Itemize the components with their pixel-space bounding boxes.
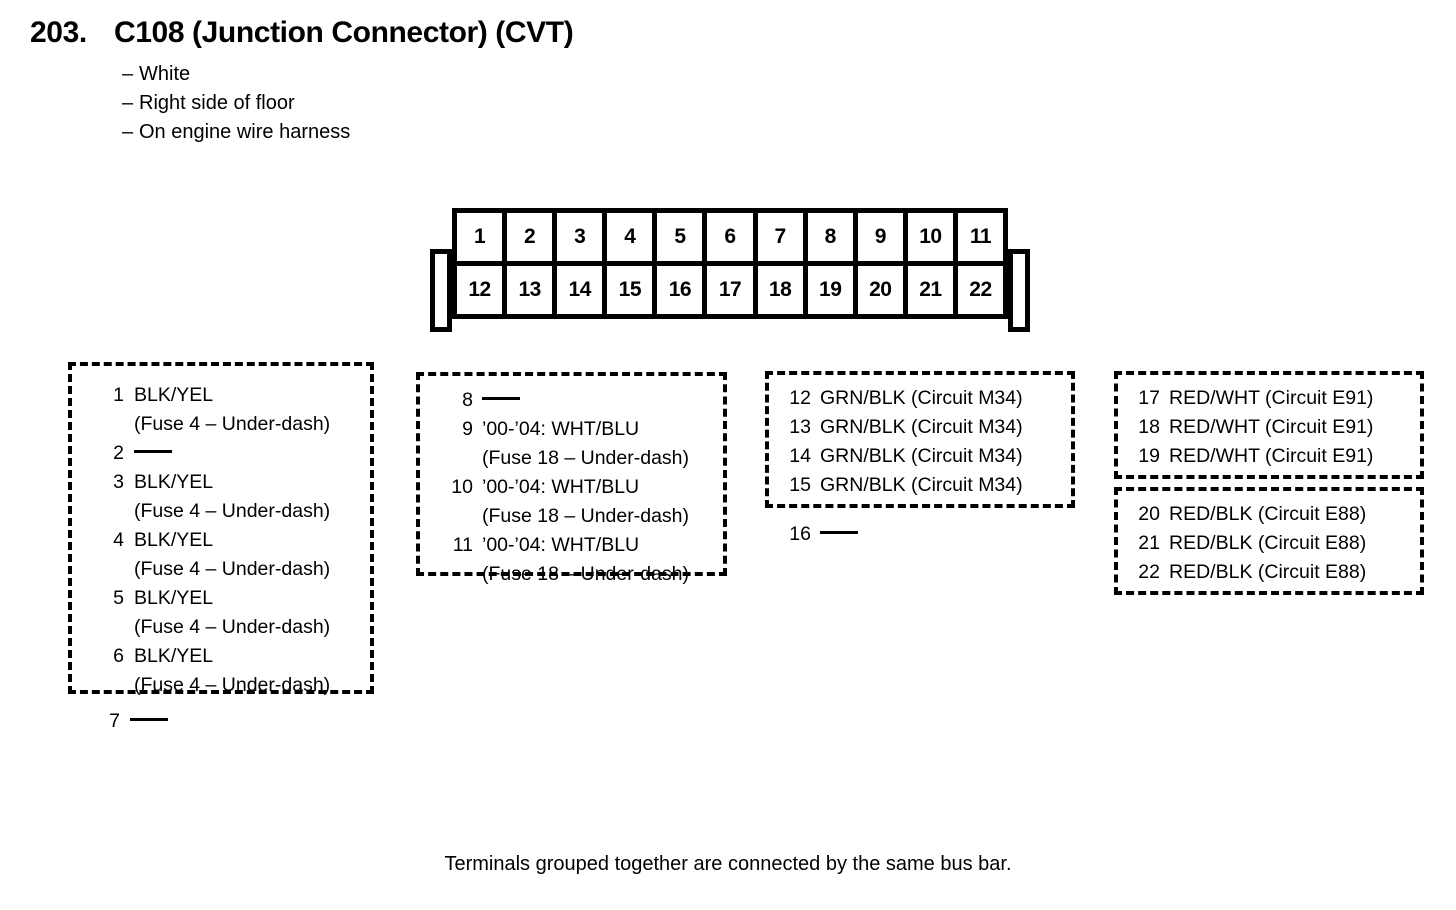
connector-tab-right	[1008, 249, 1030, 332]
connector-pin-cell: 7	[758, 213, 808, 266]
bullet-dash-icon: –	[122, 60, 139, 89]
pin-entry-line: 11’00-’04: WHT/BLU	[443, 531, 723, 560]
pin-entry: 1BLK/YEL(Fuse 4 – Under-dash)	[102, 381, 370, 439]
pin-entry: 5BLK/YEL(Fuse 4 – Under-dash)	[102, 584, 370, 642]
connector-property: –White	[122, 60, 930, 89]
pin-description: RED/BLK (Circuit E88)	[1169, 500, 1366, 529]
pin-description: BLK/YEL	[134, 381, 213, 410]
pin-description	[130, 707, 168, 736]
pin-entry: 17RED/WHT (Circuit E91)	[1134, 384, 1420, 413]
pin-entry-line: 14GRN/BLK (Circuit M34)	[785, 442, 1071, 471]
terminal-group-box: 89’00-’04: WHT/BLU(Fuse 18 – Under-dash)…	[416, 372, 727, 576]
pin-entry: 4BLK/YEL(Fuse 4 – Under-dash)	[102, 526, 370, 584]
pin-entry-line: 21RED/BLK (Circuit E88)	[1134, 529, 1420, 558]
pin-entry: 8	[443, 386, 723, 415]
connector-pin-cell: 21	[908, 266, 958, 314]
pin-source-note: (Fuse 4 – Under-dash)	[102, 613, 370, 642]
connector-property: –On engine wire harness	[122, 118, 930, 147]
pin-entry-line: 1BLK/YEL	[102, 381, 370, 410]
pin-number: 16	[785, 520, 811, 549]
pin-list: 89’00-’04: WHT/BLU(Fuse 18 – Under-dash)…	[443, 386, 723, 589]
pin-entry: 2	[102, 439, 370, 468]
pin-number: 1	[102, 381, 124, 410]
pin-description: GRN/BLK (Circuit M34)	[820, 384, 1023, 413]
pin-description	[134, 439, 172, 468]
pin-entry-line: 6BLK/YEL	[102, 642, 370, 671]
bullet-dash-icon: –	[122, 89, 139, 118]
connector-pin-cell: 14	[557, 266, 607, 314]
connector-pin-cell: 11	[958, 213, 1003, 266]
pin-entry: 15GRN/BLK (Circuit M34)	[785, 471, 1071, 500]
pin-entry-line: 10’00-’04: WHT/BLU	[443, 473, 723, 502]
pin-source-note: (Fuse 4 – Under-dash)	[102, 671, 370, 700]
connector-pin-cell: 22	[958, 266, 1003, 314]
pin-entry-line: 12GRN/BLK (Circuit M34)	[785, 384, 1071, 413]
connector-pin-cell: 17	[707, 266, 757, 314]
connector-pin-cell: 18	[758, 266, 808, 314]
pin-entry: 20RED/BLK (Circuit E88)	[1134, 500, 1420, 529]
pin-list: 20RED/BLK (Circuit E88)21RED/BLK (Circui…	[1134, 500, 1420, 587]
pin-list: 17RED/WHT (Circuit E91)18RED/WHT (Circui…	[1134, 384, 1420, 471]
pin-description: BLK/YEL	[134, 526, 213, 555]
connector-property-label: Right side of floor	[139, 92, 295, 114]
pin-entry: 22RED/BLK (Circuit E88)	[1134, 558, 1420, 587]
page-title: 203.C108 (Junction Connector) (CVT)	[30, 18, 930, 48]
pin-description: GRN/BLK (Circuit M34)	[820, 442, 1023, 471]
page-title-text: C108 (Junction Connector) (CVT)	[114, 16, 573, 49]
pin-entry-line: 5BLK/YEL	[102, 584, 370, 613]
pin-entry: 12GRN/BLK (Circuit M34)	[785, 384, 1071, 413]
pin-entry: 13GRN/BLK (Circuit M34)	[785, 413, 1071, 442]
pin-number: 22	[1134, 558, 1160, 587]
pin-description: RED/BLK (Circuit E88)	[1169, 529, 1366, 558]
pin-entry: 10’00-’04: WHT/BLU(Fuse 18 – Under-dash)	[443, 473, 723, 531]
connector-pin-cell: 9	[858, 213, 908, 266]
connector-pin-cell: 10	[908, 213, 958, 266]
pin-list: 12GRN/BLK (Circuit M34)13GRN/BLK (Circui…	[785, 384, 1071, 500]
connector-tab-left	[430, 249, 452, 332]
terminal-group-box: 12GRN/BLK (Circuit M34)13GRN/BLK (Circui…	[765, 371, 1075, 508]
pin-row-top: 1234567891011	[457, 213, 1003, 266]
pin-number: 18	[1134, 413, 1160, 442]
pin-description	[482, 386, 520, 415]
pin-entry: 6BLK/YEL(Fuse 4 – Under-dash)	[102, 642, 370, 700]
connector-pin-cell: 3	[557, 213, 607, 266]
pin-description: BLK/YEL	[134, 584, 213, 613]
pin-entry-line: 13GRN/BLK (Circuit M34)	[785, 413, 1071, 442]
pin-description: BLK/YEL	[134, 468, 213, 497]
connector-property: –Right side of floor	[122, 89, 930, 118]
connector-pinout-diagram: 1234567891011 1213141516171819202122	[430, 208, 1030, 333]
pin-entry-ungrouped: 16	[785, 520, 858, 549]
pin-number: 5	[102, 584, 124, 613]
connector-pin-cell: 13	[507, 266, 557, 314]
connector-pin-cell: 16	[657, 266, 707, 314]
pin-entry-line: 8	[443, 386, 723, 415]
pin-number: 2	[102, 439, 124, 468]
connector-pin-cell: 1	[457, 213, 507, 266]
pin-description: BLK/YEL	[134, 642, 213, 671]
pin-entry: 18RED/WHT (Circuit E91)	[1134, 413, 1420, 442]
pin-entry-line: 9’00-’04: WHT/BLU	[443, 415, 723, 444]
empty-terminal-dash-icon	[482, 397, 520, 400]
pin-entry: 14GRN/BLK (Circuit M34)	[785, 442, 1071, 471]
pin-entry: 11’00-’04: WHT/BLU(Fuse 18 – Under-dash)	[443, 531, 723, 589]
pin-description: RED/BLK (Circuit E88)	[1169, 558, 1366, 587]
pin-number: 13	[785, 413, 811, 442]
pin-number: 11	[443, 531, 473, 560]
pin-entry-line: 19RED/WHT (Circuit E91)	[1134, 442, 1420, 471]
pin-source-note: (Fuse 18 – Under-dash)	[443, 444, 723, 473]
bullet-dash-icon: –	[122, 118, 139, 147]
pin-description: ’00-’04: WHT/BLU	[482, 531, 639, 560]
pin-entry: 19RED/WHT (Circuit E91)	[1134, 442, 1420, 471]
connector-pin-cell: 5	[657, 213, 707, 266]
pin-description: RED/WHT (Circuit E91)	[1169, 384, 1373, 413]
pin-description	[820, 520, 858, 549]
pin-entry-line: 17RED/WHT (Circuit E91)	[1134, 384, 1420, 413]
pin-number: 6	[102, 642, 124, 671]
empty-terminal-dash-icon	[130, 718, 168, 721]
empty-terminal-dash-icon	[820, 531, 858, 534]
footer-note: Terminals grouped together are connected…	[0, 853, 1456, 876]
connector-properties-list: –White –Right side of floor –On engine w…	[30, 60, 930, 147]
pin-source-note: (Fuse 4 – Under-dash)	[102, 410, 370, 439]
pin-number: 19	[1134, 442, 1160, 471]
pin-entry: 3BLK/YEL(Fuse 4 – Under-dash)	[102, 468, 370, 526]
pin-number: 12	[785, 384, 811, 413]
connector-property-label: On engine wire harness	[139, 121, 350, 143]
connector-pin-cell: 2	[507, 213, 557, 266]
pin-list: 1BLK/YEL(Fuse 4 – Under-dash)23BLK/YEL(F…	[102, 381, 370, 700]
pin-entry-ungrouped: 7	[98, 707, 168, 736]
empty-terminal-dash-icon	[134, 450, 172, 453]
pin-source-note: (Fuse 18 – Under-dash)	[443, 502, 723, 531]
connector-property-label: White	[139, 63, 190, 85]
pin-description: ’00-’04: WHT/BLU	[482, 415, 639, 444]
pin-entry: 9’00-’04: WHT/BLU(Fuse 18 – Under-dash)	[443, 415, 723, 473]
pin-entry-line: 18RED/WHT (Circuit E91)	[1134, 413, 1420, 442]
pin-number: 3	[102, 468, 124, 497]
pin-description: GRN/BLK (Circuit M34)	[820, 413, 1023, 442]
pin-entry: 21RED/BLK (Circuit E88)	[1134, 529, 1420, 558]
pin-source-note: (Fuse 4 – Under-dash)	[102, 555, 370, 584]
pin-entry-line: 3BLK/YEL	[102, 468, 370, 497]
connector-body: 1234567891011 1213141516171819202122	[452, 208, 1008, 319]
connector-pin-cell: 4	[607, 213, 657, 266]
header-block: 203.C108 (Junction Connector) (CVT) –Whi…	[30, 18, 930, 147]
pin-description: RED/WHT (Circuit E91)	[1169, 413, 1373, 442]
connector-pin-cell: 6	[707, 213, 757, 266]
pin-description: RED/WHT (Circuit E91)	[1169, 442, 1373, 471]
pin-entry-line: 2	[102, 439, 370, 468]
terminal-group-box: 20RED/BLK (Circuit E88)21RED/BLK (Circui…	[1114, 487, 1424, 595]
pin-number: 8	[443, 386, 473, 415]
connector-pin-cell: 12	[457, 266, 507, 314]
pin-number: 14	[785, 442, 811, 471]
terminal-group-box: 17RED/WHT (Circuit E91)18RED/WHT (Circui…	[1114, 371, 1424, 479]
pin-number: 17	[1134, 384, 1160, 413]
connector-pin-cell: 20	[858, 266, 908, 314]
pin-entry-line: 15GRN/BLK (Circuit M34)	[785, 471, 1071, 500]
pin-entry-line: 20RED/BLK (Circuit E88)	[1134, 500, 1420, 529]
connector-pin-cell: 15	[607, 266, 657, 314]
page-title-number: 203.	[30, 18, 114, 48]
pin-number: 15	[785, 471, 811, 500]
pin-number: 20	[1134, 500, 1160, 529]
pin-number: 21	[1134, 529, 1160, 558]
pin-entry-line: 22RED/BLK (Circuit E88)	[1134, 558, 1420, 587]
pin-row-bottom: 1213141516171819202122	[457, 266, 1003, 314]
pin-source-note: (Fuse 18 – Under-dash)	[443, 560, 723, 589]
pin-number: 4	[102, 526, 124, 555]
connector-pin-cell: 19	[808, 266, 858, 314]
pin-number: 7	[98, 707, 120, 736]
pin-description: GRN/BLK (Circuit M34)	[820, 471, 1023, 500]
connector-pin-cell: 8	[808, 213, 858, 266]
pin-entry-line: 4BLK/YEL	[102, 526, 370, 555]
pin-number: 10	[443, 473, 473, 502]
pin-source-note: (Fuse 4 – Under-dash)	[102, 497, 370, 526]
pin-description: ’00-’04: WHT/BLU	[482, 473, 639, 502]
terminal-group-box: 1BLK/YEL(Fuse 4 – Under-dash)23BLK/YEL(F…	[68, 362, 374, 694]
pin-number: 9	[443, 415, 473, 444]
